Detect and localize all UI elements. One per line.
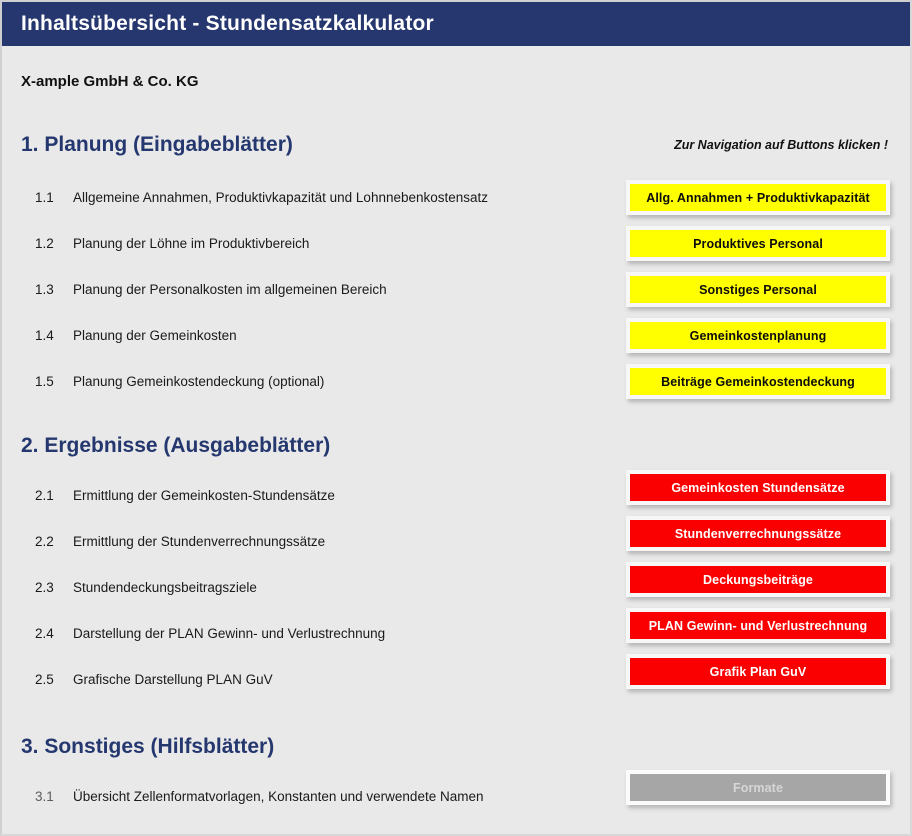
window-titlebar: Inhaltsübersicht - Stundensatzkalkulator — [2, 2, 910, 46]
nav-button-label: Stundenverrechnungssätze — [630, 520, 886, 547]
row-number: 2.3 — [35, 580, 73, 595]
row-label: Allgemeine Annahmen, Produktivkapazität … — [73, 190, 488, 205]
list-item: 1.4 Planung der Gemeinkosten — [35, 325, 237, 345]
row-label: Stundendeckungsbeitragsziele — [73, 580, 257, 595]
nav-button-label: PLAN Gewinn- und Verlustrechnung — [630, 612, 886, 639]
nav-button-label: Allg. Annahmen + Produktivkapazität — [630, 184, 886, 211]
nav-button-label: Formate — [630, 774, 886, 801]
nav-button-gemeinkosten-stundensaetze[interactable]: Gemeinkosten Stundensätze — [626, 470, 890, 505]
nav-button-label: Grafik Plan GuV — [630, 658, 886, 685]
nav-button-plan-gewinn-und-verlustrechnung[interactable]: PLAN Gewinn- und Verlustrechnung — [626, 608, 890, 643]
row-label: Planung der Löhne im Produktivbereich — [73, 236, 309, 251]
nav-button-deckungsbeitraege[interactable]: Deckungsbeiträge — [626, 562, 890, 597]
row-label: Planung Gemeinkostendeckung (optional) — [73, 374, 324, 389]
nav-button-stundenverrechnungssaetze[interactable]: Stundenverrechnungssätze — [626, 516, 890, 551]
row-number: 1.2 — [35, 236, 73, 251]
page-title: Inhaltsübersicht - Stundensatzkalkulator — [2, 12, 434, 36]
list-item: 2.5 Grafische Darstellung PLAN GuV — [35, 669, 273, 689]
nav-button-formate[interactable]: Formate — [626, 770, 890, 805]
nav-button-label: Produktives Personal — [630, 230, 886, 257]
row-number: 2.5 — [35, 672, 73, 687]
list-item: 1.5 Planung Gemeinkostendeckung (optiona… — [35, 371, 324, 391]
row-label: Grafische Darstellung PLAN GuV — [73, 672, 273, 687]
nav-button-produktives-personal[interactable]: Produktives Personal — [626, 226, 890, 261]
row-number: 1.1 — [35, 190, 73, 205]
list-item: 1.1 Allgemeine Annahmen, Produktivkapazi… — [35, 187, 488, 207]
row-label: Ermittlung der Stundenverrechnungssätze — [73, 534, 325, 549]
content-overview-page: Inhaltsübersicht - Stundensatzkalkulator… — [0, 0, 912, 836]
nav-button-label: Gemeinkostenplanung — [630, 322, 886, 349]
navigation-hint: Zur Navigation auf Buttons klicken ! — [674, 138, 888, 152]
nav-button-sonstiges-personal[interactable]: Sonstiges Personal — [626, 272, 890, 307]
nav-button-label: Deckungsbeiträge — [630, 566, 886, 593]
row-number: 2.4 — [35, 626, 73, 641]
section-heading-sonstiges: 3. Sonstiges (Hilfsblätter) — [21, 735, 274, 759]
list-item: 2.4 Darstellung der PLAN Gewinn- und Ver… — [35, 623, 385, 643]
row-number: 1.3 — [35, 282, 73, 297]
nav-button-label: Sonstiges Personal — [630, 276, 886, 303]
list-item: 2.3 Stundendeckungsbeitragsziele — [35, 577, 257, 597]
row-label: Ermittlung der Gemeinkosten-Stundensätze — [73, 488, 335, 503]
row-number: 2.1 — [35, 488, 73, 503]
nav-button-beitraege-gemeinkostendeckung[interactable]: Beiträge Gemeinkostendeckung — [626, 364, 890, 399]
nav-button-allg-annahmen-produktivkapazitaet[interactable]: Allg. Annahmen + Produktivkapazität — [626, 180, 890, 215]
list-item: 1.3 Planung der Personalkosten im allgem… — [35, 279, 387, 299]
row-number: 1.4 — [35, 328, 73, 343]
row-number: 1.5 — [35, 374, 73, 389]
row-label: Planung der Personalkosten im allgemeine… — [73, 282, 387, 297]
row-label: Übersicht Zellenformatvorlagen, Konstant… — [73, 789, 483, 804]
row-label: Planung der Gemeinkosten — [73, 328, 237, 343]
list-item: 3.1 Übersicht Zellenformatvorlagen, Kons… — [35, 786, 483, 806]
list-item: 1.2 Planung der Löhne im Produktivbereic… — [35, 233, 309, 253]
row-label: Darstellung der PLAN Gewinn- und Verlust… — [73, 626, 385, 641]
row-number: 2.2 — [35, 534, 73, 549]
section-heading-planung: 1. Planung (Eingabeblätter) — [21, 133, 293, 157]
section-heading-ergebnisse: 2. Ergebnisse (Ausgabeblätter) — [21, 434, 330, 458]
nav-button-grafik-plan-guv[interactable]: Grafik Plan GuV — [626, 654, 890, 689]
list-item: 2.2 Ermittlung der Stundenverrechnungssä… — [35, 531, 325, 551]
nav-button-label: Beiträge Gemeinkostendeckung — [630, 368, 886, 395]
row-number: 3.1 — [35, 789, 73, 804]
list-item: 2.1 Ermittlung der Gemeinkosten-Stundens… — [35, 485, 335, 505]
nav-button-gemeinkostenplanung[interactable]: Gemeinkostenplanung — [626, 318, 890, 353]
company-name: X-ample GmbH & Co. KG — [21, 73, 199, 90]
nav-button-label: Gemeinkosten Stundensätze — [630, 474, 886, 501]
